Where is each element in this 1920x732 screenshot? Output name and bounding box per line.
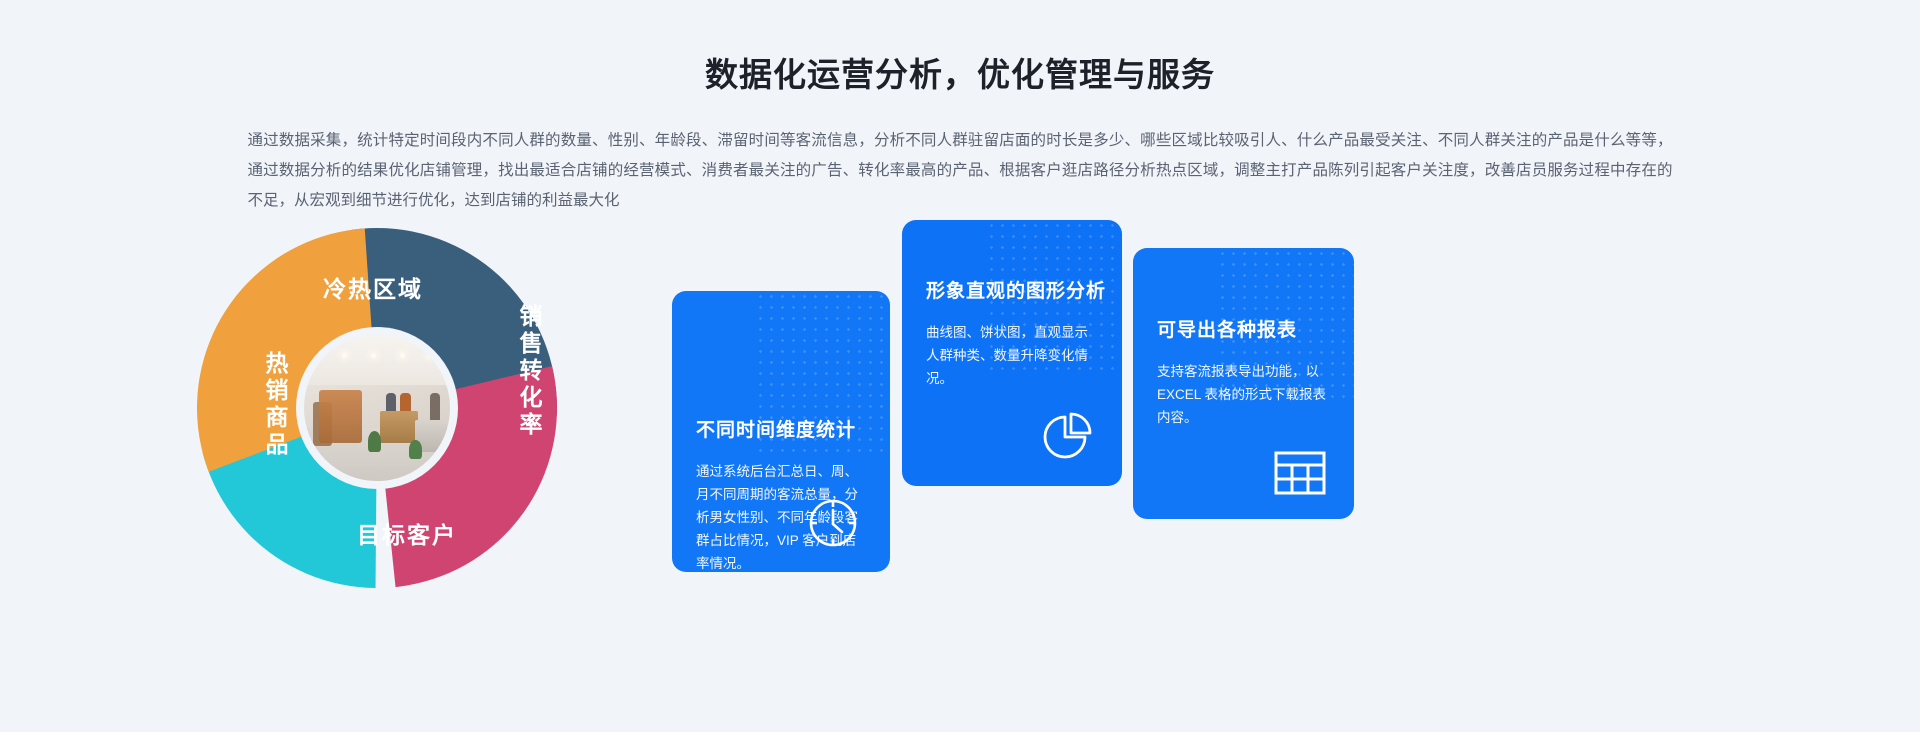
wheel-label-sales-conversion: 销售转化率 <box>512 304 546 439</box>
feature-card-title: 形象直观的图形分析 <box>926 276 1122 303</box>
feature-card-visual-graph-analysis[interactable]: 形象直观的图形分析 曲线图、饼状图，直观显示人群种类、数量升降变化情况。 <box>902 220 1122 486</box>
feature-card-description: 支持客流报表导出功能，以 EXCEL 表格的形式下载报表内容。 <box>1157 360 1330 429</box>
wheel-center-photo-ring <box>296 327 458 489</box>
page-root: 数据化运营分析，优化管理与服务 通过数据采集，统计特定时间段内不同人群的数量、性… <box>0 0 1920 732</box>
page-title: 数据化运营分析，优化管理与服务 <box>0 48 1920 96</box>
wheel-label-target-customer: 目标客户 <box>357 516 457 550</box>
table-icon <box>1274 451 1326 495</box>
store-interior-image <box>304 335 450 481</box>
analysis-wheel: 冷热区域 销售转化率 目标客户 热销商品 <box>197 228 557 588</box>
clock-icon <box>806 496 860 550</box>
wheel-label-hot-cold-zone: 冷热区域 <box>323 270 423 304</box>
feature-card-time-dimension-stats[interactable]: 不同时间维度统计 通过系统后台汇总日、周、月不同周期的客流总量，分析男女性别、不… <box>672 291 890 572</box>
feature-card-title: 可导出各种报表 <box>1157 315 1354 342</box>
wheel-label-hot-products: 热销商品 <box>258 351 292 459</box>
feature-card-description: 曲线图、饼状图，直观显示人群种类、数量升降变化情况。 <box>926 321 1098 390</box>
pie-chart-icon <box>1040 408 1094 462</box>
feature-card-title: 不同时间维度统计 <box>696 415 890 442</box>
intro-paragraph: 通过数据采集，统计特定时间段内不同人群的数量、性别、年龄段、滞留时间等客流信息，… <box>248 126 1673 216</box>
feature-card-exportable-reports[interactable]: 可导出各种报表 支持客流报表导出功能，以 EXCEL 表格的形式下载报表内容。 <box>1133 248 1354 519</box>
header: 数据化运营分析，优化管理与服务 通过数据采集，统计特定时间段内不同人群的数量、性… <box>0 0 1920 216</box>
